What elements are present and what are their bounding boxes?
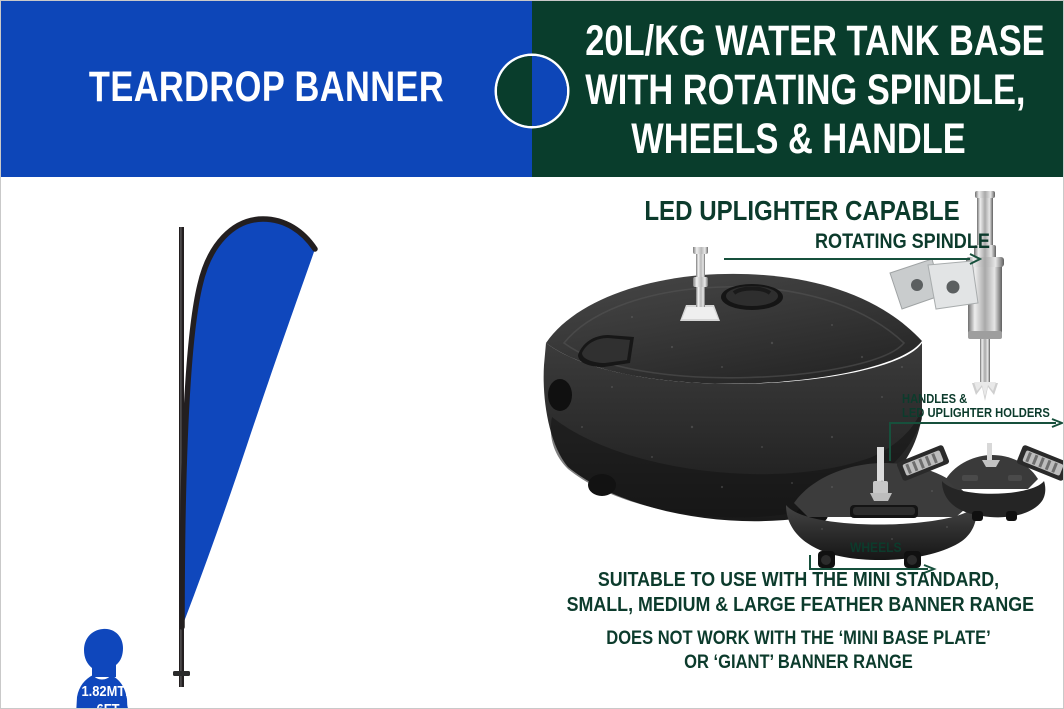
callout-wheels: WHEELS — [850, 540, 910, 555]
compatible-note-line-2: SMALL, MEDIUM & LARGE FEATHER BANNER RAN… — [567, 592, 1031, 617]
split-circle-left-half — [497, 56, 532, 126]
header-right-title: 20L/KG WATER TANK BASE WITH ROTATING SPI… — [532, 17, 1064, 164]
compatible-note-line-1: SUITABLE TO USE WITH THE MINI STANDARD, — [567, 567, 1031, 592]
callout-handles-line-1: HANDLES & — [902, 392, 1050, 406]
right-panel: LED UPLIGHTER CAPABLE — [532, 177, 1064, 709]
footnotes: SUITABLE TO USE WITH THE MINI STANDARD, … — [532, 567, 1064, 685]
header-right-title-line-1: 20L/KG WATER TANK BASE — [585, 17, 1011, 66]
incompatible-note: DOES NOT WORK WITH THE ‘MINI BASE PLATE’… — [532, 627, 1064, 675]
led-uplighter-heading: LED UPLIGHTER CAPABLE — [617, 196, 987, 226]
left-panel: 1.82MTR 6FT 3.20X0.90M BANNER SIZE (3.60… — [1, 177, 532, 709]
incompatible-note-line-1: DOES NOT WORK WITH THE ‘MINI BASE PLATE’ — [567, 627, 1031, 651]
header-bar: TEARDROP BANNER 20L/KG WATER TANK BASE W… — [1, 1, 1064, 177]
header-right-title-line-3: WHEELS & HANDLE — [585, 115, 1011, 164]
teardrop-banner-flag — [151, 197, 341, 687]
compatible-note: SUITABLE TO USE WITH THE MINI STANDARD, … — [532, 567, 1064, 617]
callout-handles-and-holders: HANDLES & LED UPLIGHTER HOLDERS — [902, 392, 1064, 419]
incompatible-note-line-2: OR ‘GIANT’ BANNER RANGE — [567, 651, 1031, 675]
callout-rotating-spindle-text: ROTATING SPINDLE — [815, 231, 990, 253]
callout-handles-line-2: LED UPLIGHTER HOLDERS — [902, 406, 1050, 420]
header-right-title-line-2: WITH ROTATING SPINDLE, — [585, 66, 1011, 115]
led-uplighter-heading-text: LED UPLIGHTER CAPABLE — [643, 196, 961, 226]
person-silhouette — [63, 625, 168, 709]
callout-rotating-spindle: ROTATING SPINDLE — [815, 231, 1018, 253]
header-left-title: TEARDROP BANNER — [54, 64, 479, 110]
callout-wheels-text: WHEELS — [850, 540, 902, 555]
split-circle-right-half — [532, 56, 567, 126]
handles-leader-line — [888, 417, 1064, 467]
product-infographic: TEARDROP BANNER 20L/KG WATER TANK BASE W… — [0, 0, 1064, 709]
split-circle-icon — [497, 56, 567, 126]
